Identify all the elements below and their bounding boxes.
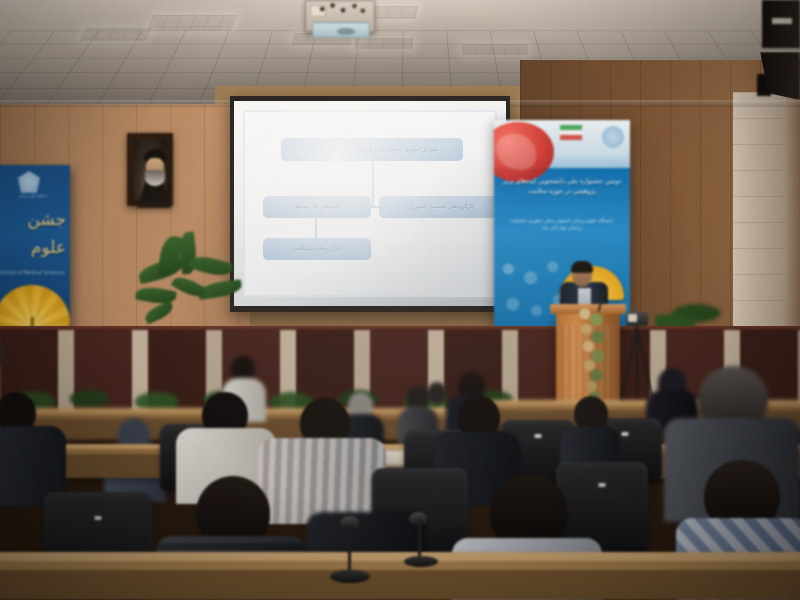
wall-speaker-icon: [762, 0, 800, 48]
slide-node-university-workgroups: کارگروه‌های دانشگاهی: [263, 238, 371, 260]
microphone-base: [404, 556, 438, 567]
microphone-base: [330, 570, 370, 583]
banner-left-english: Festival of Medical Sciences: [0, 270, 68, 275]
projector-cables: [316, 3, 368, 15]
floral-arrangement: [574, 308, 610, 404]
slide-connector-line: [315, 218, 317, 240]
presenter-hair: [571, 261, 593, 273]
slide-node-title: شورای کشوری عفاف، نماد و بهره‌وری آموزش …: [281, 138, 463, 161]
camera-screen: [628, 314, 637, 322]
university-crest-icon: [18, 171, 40, 193]
camera-tripod: [628, 326, 646, 404]
slide-node-workgroups: کارگروه‌های تخصصی کشوری: [379, 196, 497, 218]
portrait-canvas: [133, 139, 167, 200]
audience-person: [0, 392, 66, 502]
banner-headline: دومین جشنواره ملی دانشجویی ایده‌های برتر…: [500, 176, 624, 196]
banner-subline: دانشگاه علوم پزشکی اصفهان سالن مطهری دان…: [506, 218, 618, 232]
globe-icon: [494, 122, 554, 182]
slide-connector-line: [372, 161, 374, 207]
ceiling-projector-icon: [305, 0, 375, 32]
presentation-slide: شورای کشوری عفاف، نماد و بهره‌وری آموزش …: [243, 110, 497, 297]
iran-flag-icon: [560, 125, 582, 140]
banner-header-area: [494, 120, 630, 168]
portrait-beard: [145, 170, 165, 186]
projection-screen-frame: شورای کشوری عفاف، نماد و بهره‌وری آموزش …: [230, 96, 510, 312]
tripod-leg: [636, 326, 638, 404]
plant-leaf: [143, 300, 176, 324]
yellow-umbrella-icon: [0, 285, 70, 327]
desk-row-front: [0, 552, 800, 600]
university-logo-icon: [602, 126, 624, 148]
microphone-stem: [418, 520, 421, 560]
banner-left-line1: جشن: [0, 209, 66, 231]
plant-leaf: [189, 253, 234, 280]
slide-node-regional-committees: کمیته‌های کلان مناطق: [263, 196, 371, 218]
microphone-stem: [348, 524, 351, 574]
banner-left-line2: علوم: [0, 237, 66, 259]
speaker-brand-label: [772, 18, 792, 24]
projector-lens-icon: [337, 28, 355, 35]
projector-body: [312, 22, 370, 38]
framed-portrait: [127, 133, 173, 206]
banner-left-crest-caption: دانشگاه علوم پزشکی: [2, 194, 64, 198]
projection-screen: شورای کشوری عفاف، نماد و بهره‌وری آموزش …: [234, 101, 506, 306]
conference-hall-photo: شورای کشوری عفاف، نماد و بهره‌وری آموزش …: [0, 0, 800, 600]
video-camera-icon: [626, 312, 648, 326]
